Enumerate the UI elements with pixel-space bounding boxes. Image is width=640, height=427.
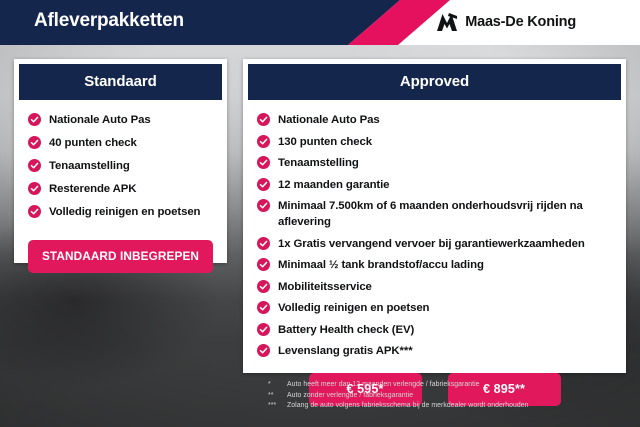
package-card-approved: Approved Nationale Auto Pas 130 punten c…	[243, 59, 626, 373]
feature-label: 130 punten check	[278, 134, 372, 150]
list-item: Tenaamstelling	[257, 155, 612, 171]
feature-label: Tenaamstelling	[49, 158, 130, 174]
feature-label: Minimaal 7.500km of 6 maanden onderhouds…	[278, 198, 612, 230]
check-circle-icon	[28, 113, 41, 126]
footnote-triple-asterisk: *** Zolang de auto volgens fabrieksschem…	[268, 401, 628, 412]
footnote-text: Zolang de auto volgens fabrieksschema bi…	[287, 401, 628, 412]
list-item: 130 punten check	[257, 134, 612, 150]
page-root: Afleverpakketten Maas-De Koning Standaar…	[0, 0, 640, 427]
card-body-approved: Nationale Auto Pas 130 punten check Tena…	[243, 100, 626, 406]
list-item: Resterende APK	[28, 181, 213, 197]
check-circle-icon	[257, 178, 270, 191]
check-circle-icon	[257, 199, 270, 212]
brand-name: Maas-De Koning	[465, 14, 576, 30]
feature-label: Volledig reinigen en poetsen	[49, 204, 200, 220]
list-item: Battery Health check (EV)	[257, 322, 612, 338]
check-circle-icon	[28, 136, 41, 149]
footnote-double-asterisk: ** Auto zonder verlengde / fabrieksgaran…	[268, 391, 628, 402]
card-title-standaard: Standaard	[19, 64, 222, 100]
check-circle-icon	[257, 135, 270, 148]
feature-label: Battery Health check (EV)	[278, 322, 414, 338]
feature-label: Levenslang gratis APK***	[278, 343, 413, 359]
list-item: Levenslang gratis APK***	[257, 343, 612, 359]
check-circle-icon	[257, 280, 270, 293]
card-body-standaard: Nationale Auto Pas 40 punten check Tenaa…	[14, 100, 227, 273]
feature-label: Mobiliteitsservice	[278, 279, 372, 295]
list-item: Minimaal ½ tank brandstof/accu lading	[257, 257, 612, 273]
list-item: Tenaamstelling	[28, 158, 213, 174]
list-item: 12 maanden garantie	[257, 177, 612, 193]
page-header: Afleverpakketten Maas-De Koning	[0, 0, 640, 45]
check-circle-icon	[257, 113, 270, 126]
feature-label: 40 punten check	[49, 135, 137, 151]
feature-label: Nationale Auto Pas	[49, 112, 151, 128]
list-item: Mobiliteitsservice	[257, 279, 612, 295]
list-item: Nationale Auto Pas	[28, 112, 213, 128]
maas-de-koning-m-logo-icon	[436, 12, 458, 32]
check-circle-icon	[257, 258, 270, 271]
check-circle-icon	[257, 237, 270, 250]
feature-label: Minimaal ½ tank brandstof/accu lading	[278, 257, 484, 273]
footnote-text: Auto zonder verlengde / fabrieksgarantie	[287, 391, 628, 402]
list-item: Nationale Auto Pas	[257, 112, 612, 128]
check-circle-icon	[257, 301, 270, 314]
footnote-mark: **	[268, 391, 287, 402]
card-title-approved: Approved	[248, 64, 621, 100]
list-item: 40 punten check	[28, 135, 213, 151]
check-circle-icon	[28, 159, 41, 172]
feature-list-standaard: Nationale Auto Pas 40 punten check Tenaa…	[28, 112, 213, 220]
standaard-inbegrepen-button[interactable]: STANDAARD INBEGREPEN	[28, 240, 213, 273]
list-item: Minimaal 7.500km of 6 maanden onderhouds…	[257, 198, 612, 230]
feature-label: 1x Gratis vervangend vervoer bij garanti…	[278, 236, 585, 252]
feature-list-approved: Nationale Auto Pas 130 punten check Tena…	[257, 112, 612, 359]
check-circle-icon	[257, 156, 270, 169]
list-item: 1x Gratis vervangend vervoer bij garanti…	[257, 236, 612, 252]
feature-label: Resterende APK	[49, 181, 136, 197]
check-circle-icon	[257, 323, 270, 336]
page-title: Afleverpakketten	[34, 10, 184, 32]
feature-label: 12 maanden garantie	[278, 177, 389, 193]
footnote-single-asterisk: * Auto heeft meer dan 12 maanden verleng…	[268, 380, 628, 391]
list-item: Volledig reinigen en poetsen	[257, 300, 612, 316]
check-circle-icon	[257, 344, 270, 357]
footnotes: * Auto heeft meer dan 12 maanden verleng…	[268, 380, 628, 412]
feature-label: Nationale Auto Pas	[278, 112, 380, 128]
brand-logo: Maas-De Koning	[436, 12, 576, 32]
package-card-standaard: Standaard Nationale Auto Pas 40 punten c…	[14, 59, 227, 263]
footnote-text: Auto heeft meer dan 12 maanden verlengde…	[287, 380, 628, 391]
list-item: Volledig reinigen en poetsen	[28, 204, 213, 220]
footnote-mark: ***	[268, 401, 287, 412]
check-circle-icon	[28, 205, 41, 218]
feature-label: Volledig reinigen en poetsen	[278, 300, 429, 316]
footnote-mark: *	[268, 380, 287, 391]
check-circle-icon	[28, 182, 41, 195]
feature-label: Tenaamstelling	[278, 155, 359, 171]
